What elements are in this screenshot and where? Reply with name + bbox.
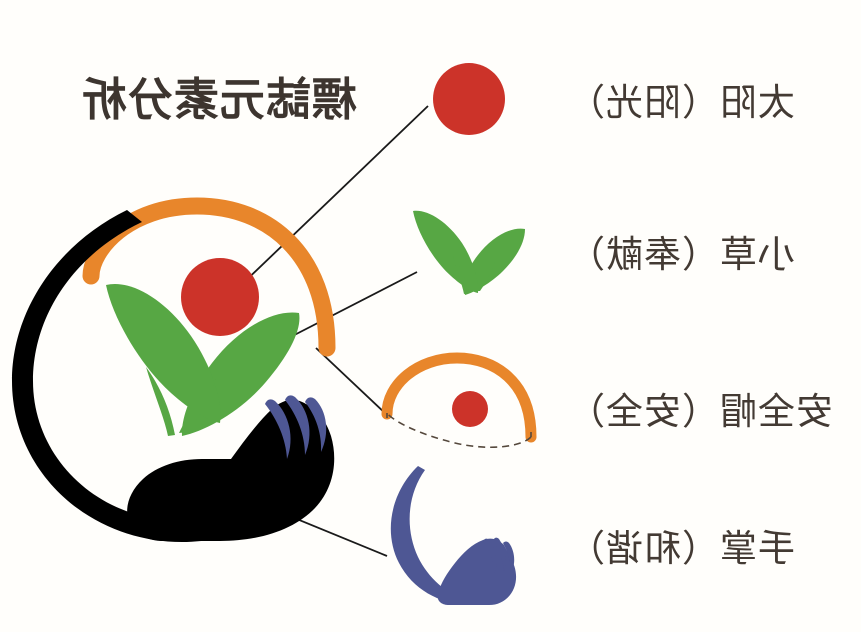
specimen-sun [433, 63, 505, 135]
label-palm: 手掌（和谐） [567, 518, 795, 572]
leader-line-helmet [316, 348, 387, 415]
leader-line-sun [236, 106, 428, 290]
label-grass: 小草（奉献） [567, 224, 795, 278]
mirrored-diagram-canvas: 標誌元素分析 太阳（阳光） 小草（奉献） 安全帽（安全） 手掌（和谐） [0, 0, 861, 632]
sun-circle-icon [433, 63, 505, 135]
page-title: 標誌元素分析 [81, 63, 357, 128]
helmet-sun-dot-icon [452, 391, 488, 427]
composite-sun-icon [181, 258, 259, 336]
specimen-helmet [387, 358, 531, 447]
composite-logo [12, 206, 334, 542]
specimen-grass [413, 211, 525, 295]
label-helmet: 安全帽（安全） [567, 381, 833, 435]
label-sun: 太阳（阳光） [567, 72, 795, 126]
grass-leaf-right-icon [413, 211, 478, 293]
specimen-palm [391, 466, 516, 605]
palm-hand-icon [438, 539, 516, 605]
